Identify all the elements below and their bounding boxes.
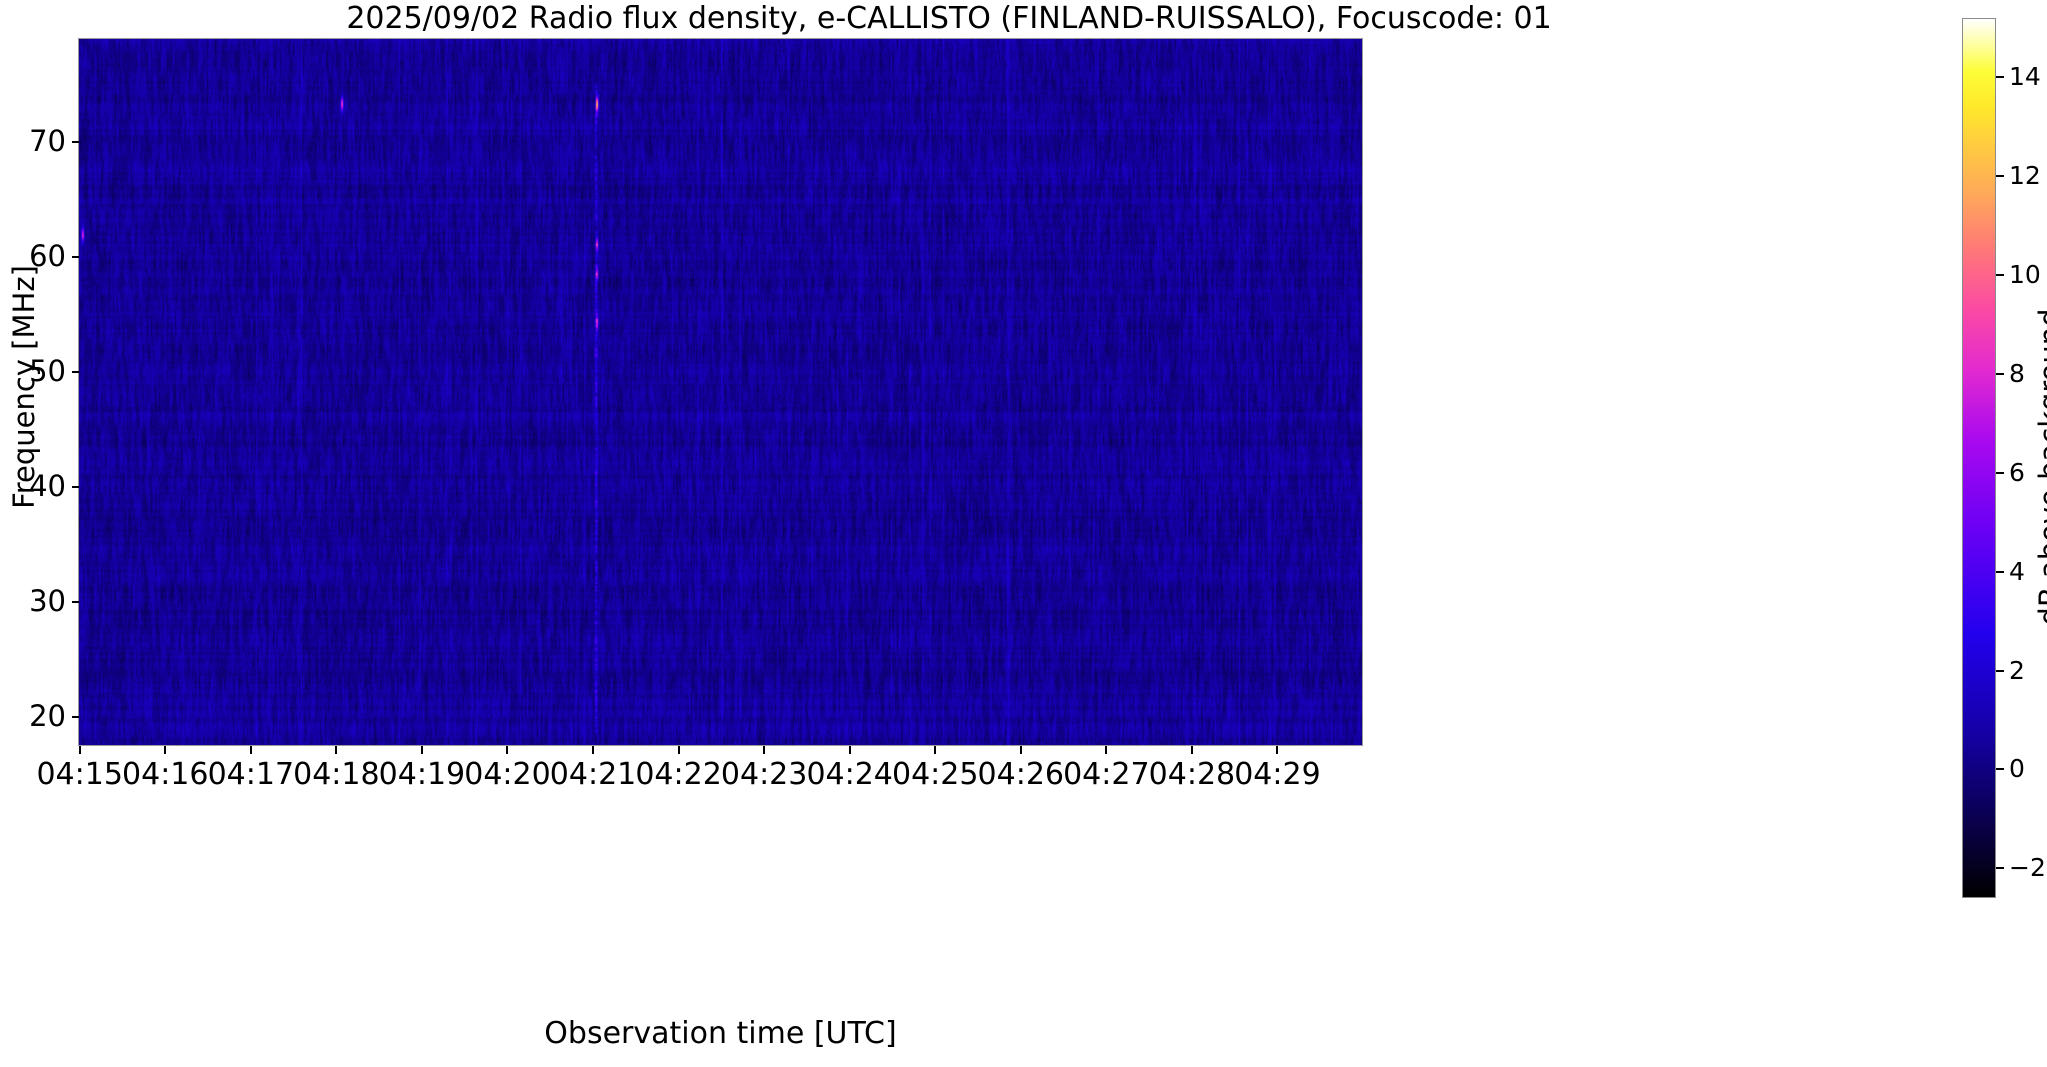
x-tick-mark	[335, 746, 337, 754]
colorbar-tick-mark	[1996, 768, 2004, 770]
x-tick-mark	[164, 746, 166, 754]
colorbar-tick-label: 0	[2009, 754, 2025, 783]
y-tick-mark	[72, 486, 79, 488]
x-tick-mark	[1020, 746, 1022, 754]
x-tick-mark	[506, 746, 508, 754]
colorbar-tick-mark	[1996, 670, 2004, 672]
x-tick-mark	[763, 746, 765, 754]
x-tick-mark	[1191, 746, 1193, 754]
x-tick-mark	[79, 746, 81, 754]
colorbar-tick-label: 14	[2009, 62, 2041, 91]
colorbar-tick-label: 6	[2009, 458, 2025, 487]
y-tick-mark	[72, 716, 79, 718]
colorbar-gradient	[1962, 18, 1996, 898]
figure-canvas: 2025/09/02 Radio flux density, e-CALLIST…	[0, 0, 2047, 1067]
y-tick-mark	[72, 371, 79, 373]
x-tick-mark	[678, 746, 680, 754]
colorbar-tick-label: 8	[2009, 359, 2025, 388]
colorbar-tick-mark	[1996, 472, 2004, 474]
y-tick-mark	[72, 601, 79, 603]
x-tick-label: 04:29	[1197, 758, 1357, 792]
x-tick-mark	[592, 746, 594, 754]
y-axis-label: Frequency [MHz]	[7, 33, 41, 741]
x-tick-mark	[934, 746, 936, 754]
colorbar-tick-mark	[1996, 373, 2004, 375]
x-tick-mark	[849, 746, 851, 754]
colorbar-tick-label: −2	[2009, 853, 2046, 882]
spectrogram-axes	[78, 38, 1363, 746]
colorbar-label: dB above background	[2033, 117, 2047, 817]
y-tick-mark	[72, 256, 79, 258]
colorbar: 14121086420−2	[1962, 18, 1996, 898]
x-tick-mark	[1276, 746, 1278, 754]
colorbar-tick-mark	[1996, 76, 2004, 78]
x-tick-mark	[250, 746, 252, 754]
colorbar-tick-label: 4	[2009, 557, 2025, 586]
chart-title: 2025/09/02 Radio flux density, e-CALLIST…	[78, 2, 1820, 36]
colorbar-tick-label: 2	[2009, 656, 2025, 685]
x-axis-label: Observation time [UTC]	[78, 1016, 1363, 1051]
colorbar-tick-mark	[1996, 571, 2004, 573]
colorbar-tick-mark	[1996, 274, 2004, 276]
colorbar-tick-mark	[1996, 175, 2004, 177]
y-tick-mark	[72, 141, 79, 143]
colorbar-tick-mark	[1996, 867, 2004, 869]
x-tick-mark	[1105, 746, 1107, 754]
spectrogram-image	[79, 39, 1363, 746]
x-tick-mark	[421, 746, 423, 754]
